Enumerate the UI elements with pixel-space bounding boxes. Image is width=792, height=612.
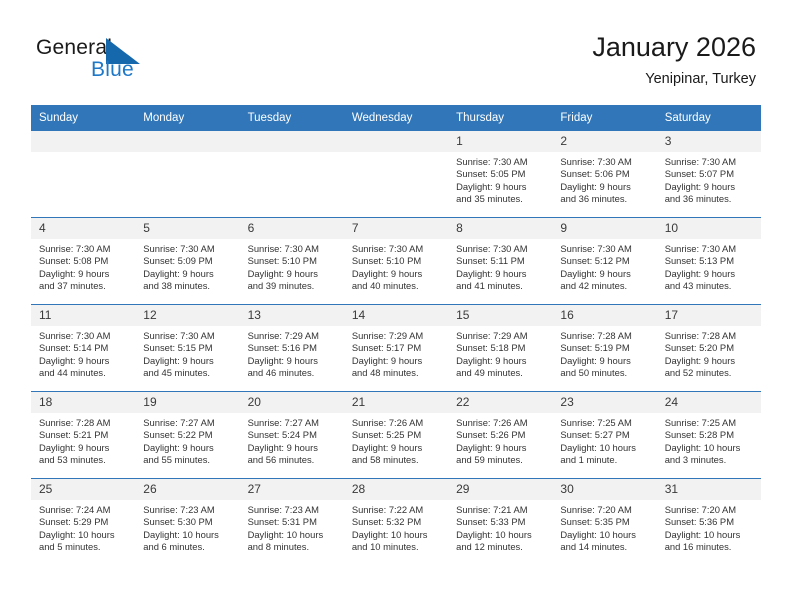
day-cell[interactable]: 13 Sunrise: 7:29 AM Sunset: 5:16 PM Dayl…	[240, 305, 344, 392]
daylight-text-line1: Daylight: 10 hours	[143, 529, 233, 541]
day-number: 30	[552, 479, 656, 500]
day-cell[interactable]: 9 Sunrise: 7:30 AM Sunset: 5:12 PM Dayli…	[552, 218, 656, 305]
day-cell[interactable]: 24 Sunrise: 7:25 AM Sunset: 5:28 PM Dayl…	[657, 392, 761, 479]
day-cell[interactable]: 2 Sunrise: 7:30 AM Sunset: 5:06 PM Dayli…	[552, 131, 656, 218]
sunset-text: Sunset: 5:09 PM	[143, 255, 233, 267]
day-cell	[135, 131, 239, 218]
day-details: Sunrise: 7:28 AM Sunset: 5:20 PM Dayligh…	[657, 326, 761, 380]
sunset-text: Sunset: 5:18 PM	[456, 342, 546, 354]
day-number: 8	[448, 218, 552, 239]
sunrise-text: Sunrise: 7:20 AM	[665, 504, 755, 516]
page-subtitle-location: Yenipinar, Turkey	[592, 68, 756, 90]
sunset-text: Sunset: 5:31 PM	[248, 516, 338, 528]
day-cell[interactable]: 29 Sunrise: 7:21 AM Sunset: 5:33 PM Dayl…	[448, 479, 552, 566]
daylight-text-line2: and 36 minutes.	[665, 193, 755, 205]
sunset-text: Sunset: 5:14 PM	[39, 342, 129, 354]
sunset-text: Sunset: 5:06 PM	[560, 168, 650, 180]
calendar-week-row: 11 Sunrise: 7:30 AM Sunset: 5:14 PM Dayl…	[31, 305, 761, 392]
daylight-text-line2: and 8 minutes.	[248, 541, 338, 553]
daylight-text-line2: and 46 minutes.	[248, 367, 338, 379]
sunset-text: Sunset: 5:05 PM	[456, 168, 546, 180]
day-details: Sunrise: 7:30 AM Sunset: 5:07 PM Dayligh…	[657, 152, 761, 206]
daylight-text-line2: and 41 minutes.	[456, 280, 546, 292]
logo-text-blue: Blue	[91, 58, 134, 82]
day-details: Sunrise: 7:30 AM Sunset: 5:12 PM Dayligh…	[552, 239, 656, 293]
daylight-text-line2: and 38 minutes.	[143, 280, 233, 292]
sunrise-text: Sunrise: 7:30 AM	[352, 243, 442, 255]
day-cell[interactable]: 27 Sunrise: 7:23 AM Sunset: 5:31 PM Dayl…	[240, 479, 344, 566]
day-cell[interactable]: 16 Sunrise: 7:28 AM Sunset: 5:19 PM Dayl…	[552, 305, 656, 392]
day-cell[interactable]: 26 Sunrise: 7:23 AM Sunset: 5:30 PM Dayl…	[135, 479, 239, 566]
daylight-text-line1: Daylight: 9 hours	[39, 355, 129, 367]
day-cell[interactable]: 20 Sunrise: 7:27 AM Sunset: 5:24 PM Dayl…	[240, 392, 344, 479]
sunset-text: Sunset: 5:20 PM	[665, 342, 755, 354]
day-details: Sunrise: 7:30 AM Sunset: 5:11 PM Dayligh…	[448, 239, 552, 293]
sunrise-text: Sunrise: 7:27 AM	[248, 417, 338, 429]
sunset-text: Sunset: 5:17 PM	[352, 342, 442, 354]
calendar-page: General Blue January 2026 Yenipinar, Tur…	[0, 0, 792, 612]
sunset-text: Sunset: 5:19 PM	[560, 342, 650, 354]
daylight-text-line1: Daylight: 9 hours	[560, 181, 650, 193]
day-cell[interactable]: 11 Sunrise: 7:30 AM Sunset: 5:14 PM Dayl…	[31, 305, 135, 392]
day-details: Sunrise: 7:30 AM Sunset: 5:06 PM Dayligh…	[552, 152, 656, 206]
sunrise-text: Sunrise: 7:27 AM	[143, 417, 233, 429]
daylight-text-line2: and 14 minutes.	[560, 541, 650, 553]
day-details: Sunrise: 7:28 AM Sunset: 5:19 PM Dayligh…	[552, 326, 656, 380]
logo-text-general: General	[36, 36, 112, 60]
day-number: 27	[240, 479, 344, 500]
daylight-text-line1: Daylight: 9 hours	[665, 181, 755, 193]
daylight-text-line2: and 36 minutes.	[560, 193, 650, 205]
daylight-text-line1: Daylight: 9 hours	[352, 355, 442, 367]
day-number: 28	[344, 479, 448, 500]
day-number: 29	[448, 479, 552, 500]
sunrise-text: Sunrise: 7:30 AM	[456, 243, 546, 255]
day-details: Sunrise: 7:30 AM Sunset: 5:05 PM Dayligh…	[448, 152, 552, 206]
sunset-text: Sunset: 5:26 PM	[456, 429, 546, 441]
sunrise-text: Sunrise: 7:24 AM	[39, 504, 129, 516]
daylight-text-line2: and 48 minutes.	[352, 367, 442, 379]
day-cell[interactable]: 15 Sunrise: 7:29 AM Sunset: 5:18 PM Dayl…	[448, 305, 552, 392]
sunrise-text: Sunrise: 7:28 AM	[560, 330, 650, 342]
daylight-text-line1: Daylight: 9 hours	[143, 442, 233, 454]
sunrise-text: Sunrise: 7:26 AM	[352, 417, 442, 429]
sunset-text: Sunset: 5:11 PM	[456, 255, 546, 267]
daylight-text-line1: Daylight: 10 hours	[352, 529, 442, 541]
daylight-text-line2: and 42 minutes.	[560, 280, 650, 292]
day-cell	[31, 131, 135, 218]
day-details: Sunrise: 7:28 AM Sunset: 5:21 PM Dayligh…	[31, 413, 135, 467]
day-number: 31	[657, 479, 761, 500]
sunset-text: Sunset: 5:32 PM	[352, 516, 442, 528]
sunset-text: Sunset: 5:16 PM	[248, 342, 338, 354]
day-details: Sunrise: 7:20 AM Sunset: 5:36 PM Dayligh…	[657, 500, 761, 554]
sunrise-text: Sunrise: 7:28 AM	[665, 330, 755, 342]
sunrise-text: Sunrise: 7:30 AM	[665, 243, 755, 255]
daylight-text-line1: Daylight: 10 hours	[560, 442, 650, 454]
day-number: 24	[657, 392, 761, 413]
daylight-text-line1: Daylight: 9 hours	[456, 355, 546, 367]
sunset-text: Sunset: 5:13 PM	[665, 255, 755, 267]
calendar-grid: Sunday Monday Tuesday Wednesday Thursday…	[31, 105, 761, 565]
daylight-text-line1: Daylight: 9 hours	[352, 442, 442, 454]
day-details	[135, 152, 239, 156]
day-details: Sunrise: 7:21 AM Sunset: 5:33 PM Dayligh…	[448, 500, 552, 554]
sunrise-text: Sunrise: 7:29 AM	[352, 330, 442, 342]
daylight-text-line1: Daylight: 10 hours	[456, 529, 546, 541]
day-number: 23	[552, 392, 656, 413]
sunrise-text: Sunrise: 7:30 AM	[143, 243, 233, 255]
sunset-text: Sunset: 5:29 PM	[39, 516, 129, 528]
day-number: 5	[135, 218, 239, 239]
daylight-text-line1: Daylight: 9 hours	[560, 268, 650, 280]
weekday-header-row: Sunday Monday Tuesday Wednesday Thursday…	[31, 105, 761, 131]
daylight-text-line2: and 10 minutes.	[352, 541, 442, 553]
sunset-text: Sunset: 5:36 PM	[665, 516, 755, 528]
day-details: Sunrise: 7:29 AM Sunset: 5:17 PM Dayligh…	[344, 326, 448, 380]
page-title: January 2026	[592, 30, 756, 64]
day-cell[interactable]: 25 Sunrise: 7:24 AM Sunset: 5:29 PM Dayl…	[31, 479, 135, 566]
daylight-text-line2: and 53 minutes.	[39, 454, 129, 466]
sunset-text: Sunset: 5:21 PM	[39, 429, 129, 441]
sunrise-text: Sunrise: 7:30 AM	[39, 243, 129, 255]
day-cell[interactable]: 1 Sunrise: 7:30 AM Sunset: 5:05 PM Dayli…	[448, 131, 552, 218]
daylight-text-line2: and 43 minutes.	[665, 280, 755, 292]
daylight-text-line1: Daylight: 10 hours	[560, 529, 650, 541]
day-details: Sunrise: 7:30 AM Sunset: 5:15 PM Dayligh…	[135, 326, 239, 380]
weekday-header-thursday: Thursday	[448, 105, 552, 131]
day-number: 6	[240, 218, 344, 239]
daylight-text-line1: Daylight: 10 hours	[39, 529, 129, 541]
daylight-text-line2: and 49 minutes.	[456, 367, 546, 379]
daylight-text-line1: Daylight: 9 hours	[248, 355, 338, 367]
daylight-text-line2: and 59 minutes.	[456, 454, 546, 466]
day-number: 17	[657, 305, 761, 326]
daylight-text-line1: Daylight: 10 hours	[665, 442, 755, 454]
day-number: 2	[552, 131, 656, 152]
daylight-text-line2: and 39 minutes.	[248, 280, 338, 292]
day-details	[240, 152, 344, 156]
weekday-header-friday: Friday	[552, 105, 656, 131]
sunrise-text: Sunrise: 7:21 AM	[456, 504, 546, 516]
day-number: 20	[240, 392, 344, 413]
day-number: 9	[552, 218, 656, 239]
daylight-text-line2: and 6 minutes.	[143, 541, 233, 553]
day-number: 11	[31, 305, 135, 326]
day-number: 22	[448, 392, 552, 413]
day-details: Sunrise: 7:30 AM Sunset: 5:13 PM Dayligh…	[657, 239, 761, 293]
daylight-text-line2: and 37 minutes.	[39, 280, 129, 292]
day-number: 1	[448, 131, 552, 152]
day-cell[interactable]: 10 Sunrise: 7:30 AM Sunset: 5:13 PM Dayl…	[657, 218, 761, 305]
sunrise-text: Sunrise: 7:23 AM	[248, 504, 338, 516]
daylight-text-line2: and 56 minutes.	[248, 454, 338, 466]
page-header: General Blue January 2026 Yenipinar, Tur…	[0, 0, 792, 104]
sunrise-text: Sunrise: 7:29 AM	[248, 330, 338, 342]
daylight-text-line2: and 5 minutes.	[39, 541, 129, 553]
weekday-header-saturday: Saturday	[657, 105, 761, 131]
day-number: 18	[31, 392, 135, 413]
sunset-text: Sunset: 5:24 PM	[248, 429, 338, 441]
daylight-text-line2: and 45 minutes.	[143, 367, 233, 379]
day-cell[interactable]: 6 Sunrise: 7:30 AM Sunset: 5:10 PM Dayli…	[240, 218, 344, 305]
day-number: 7	[344, 218, 448, 239]
sunset-text: Sunset: 5:07 PM	[665, 168, 755, 180]
daylight-text-line2: and 55 minutes.	[143, 454, 233, 466]
day-details: Sunrise: 7:29 AM Sunset: 5:18 PM Dayligh…	[448, 326, 552, 380]
day-cell[interactable]: 23 Sunrise: 7:25 AM Sunset: 5:27 PM Dayl…	[552, 392, 656, 479]
day-details: Sunrise: 7:25 AM Sunset: 5:28 PM Dayligh…	[657, 413, 761, 467]
day-details: Sunrise: 7:26 AM Sunset: 5:25 PM Dayligh…	[344, 413, 448, 467]
daylight-text-line1: Daylight: 9 hours	[39, 442, 129, 454]
day-details: Sunrise: 7:30 AM Sunset: 5:09 PM Dayligh…	[135, 239, 239, 293]
sunrise-text: Sunrise: 7:30 AM	[665, 156, 755, 168]
day-details: Sunrise: 7:20 AM Sunset: 5:35 PM Dayligh…	[552, 500, 656, 554]
day-cell[interactable]: 5 Sunrise: 7:30 AM Sunset: 5:09 PM Dayli…	[135, 218, 239, 305]
daylight-text-line1: Daylight: 9 hours	[456, 268, 546, 280]
day-cell[interactable]: 12 Sunrise: 7:30 AM Sunset: 5:15 PM Dayl…	[135, 305, 239, 392]
day-number	[344, 131, 448, 152]
day-cell[interactable]: 21 Sunrise: 7:26 AM Sunset: 5:25 PM Dayl…	[344, 392, 448, 479]
sunset-text: Sunset: 5:35 PM	[560, 516, 650, 528]
daylight-text-line2: and 40 minutes.	[352, 280, 442, 292]
sunrise-text: Sunrise: 7:30 AM	[143, 330, 233, 342]
day-number: 26	[135, 479, 239, 500]
day-details	[344, 152, 448, 156]
daylight-text-line1: Daylight: 10 hours	[248, 529, 338, 541]
daylight-text-line1: Daylight: 9 hours	[248, 442, 338, 454]
daylight-text-line1: Daylight: 9 hours	[456, 442, 546, 454]
calendar-week-row: 4 Sunrise: 7:30 AM Sunset: 5:08 PM Dayli…	[31, 218, 761, 305]
sunrise-text: Sunrise: 7:26 AM	[456, 417, 546, 429]
day-cell	[240, 131, 344, 218]
sunset-text: Sunset: 5:33 PM	[456, 516, 546, 528]
daylight-text-line1: Daylight: 9 hours	[456, 181, 546, 193]
day-details: Sunrise: 7:23 AM Sunset: 5:31 PM Dayligh…	[240, 500, 344, 554]
day-details: Sunrise: 7:27 AM Sunset: 5:22 PM Dayligh…	[135, 413, 239, 467]
sunrise-text: Sunrise: 7:22 AM	[352, 504, 442, 516]
day-details: Sunrise: 7:29 AM Sunset: 5:16 PM Dayligh…	[240, 326, 344, 380]
day-number: 10	[657, 218, 761, 239]
daylight-text-line2: and 35 minutes.	[456, 193, 546, 205]
daylight-text-line1: Daylight: 9 hours	[352, 268, 442, 280]
day-number: 14	[344, 305, 448, 326]
day-number: 4	[31, 218, 135, 239]
day-details: Sunrise: 7:30 AM Sunset: 5:10 PM Dayligh…	[344, 239, 448, 293]
sunrise-text: Sunrise: 7:23 AM	[143, 504, 233, 516]
day-cell[interactable]: 28 Sunrise: 7:22 AM Sunset: 5:32 PM Dayl…	[344, 479, 448, 566]
daylight-text-line2: and 52 minutes.	[665, 367, 755, 379]
daylight-text-line1: Daylight: 9 hours	[665, 268, 755, 280]
day-cell[interactable]: 4 Sunrise: 7:30 AM Sunset: 5:08 PM Dayli…	[31, 218, 135, 305]
general-blue-logo[interactable]: General Blue	[36, 36, 236, 88]
day-number: 15	[448, 305, 552, 326]
sunset-text: Sunset: 5:12 PM	[560, 255, 650, 267]
daylight-text-line1: Daylight: 9 hours	[143, 268, 233, 280]
day-details: Sunrise: 7:25 AM Sunset: 5:27 PM Dayligh…	[552, 413, 656, 467]
daylight-text-line1: Daylight: 9 hours	[560, 355, 650, 367]
daylight-text-line1: Daylight: 9 hours	[665, 355, 755, 367]
calendar-week-row: 18 Sunrise: 7:28 AM Sunset: 5:21 PM Dayl…	[31, 392, 761, 479]
day-cell[interactable]: 18 Sunrise: 7:28 AM Sunset: 5:21 PM Dayl…	[31, 392, 135, 479]
sunset-text: Sunset: 5:30 PM	[143, 516, 233, 528]
day-details	[31, 152, 135, 156]
weekday-header-tuesday: Tuesday	[240, 105, 344, 131]
sunrise-text: Sunrise: 7:29 AM	[456, 330, 546, 342]
sunrise-text: Sunrise: 7:30 AM	[560, 156, 650, 168]
day-number: 25	[31, 479, 135, 500]
day-details: Sunrise: 7:30 AM Sunset: 5:08 PM Dayligh…	[31, 239, 135, 293]
sunrise-text: Sunrise: 7:30 AM	[456, 156, 546, 168]
day-cell[interactable]: 31 Sunrise: 7:20 AM Sunset: 5:36 PM Dayl…	[657, 479, 761, 566]
sunrise-text: Sunrise: 7:30 AM	[560, 243, 650, 255]
day-details: Sunrise: 7:23 AM Sunset: 5:30 PM Dayligh…	[135, 500, 239, 554]
daylight-text-line1: Daylight: 9 hours	[143, 355, 233, 367]
day-cell	[344, 131, 448, 218]
day-cell[interactable]: 19 Sunrise: 7:27 AM Sunset: 5:22 PM Dayl…	[135, 392, 239, 479]
sunset-text: Sunset: 5:10 PM	[248, 255, 338, 267]
sunset-text: Sunset: 5:27 PM	[560, 429, 650, 441]
day-number	[135, 131, 239, 152]
day-details: Sunrise: 7:27 AM Sunset: 5:24 PM Dayligh…	[240, 413, 344, 467]
sunset-text: Sunset: 5:25 PM	[352, 429, 442, 441]
day-number: 16	[552, 305, 656, 326]
day-cell[interactable]: 7 Sunrise: 7:30 AM Sunset: 5:10 PM Dayli…	[344, 218, 448, 305]
day-details: Sunrise: 7:30 AM Sunset: 5:10 PM Dayligh…	[240, 239, 344, 293]
calendar-body: 1 Sunrise: 7:30 AM Sunset: 5:05 PM Dayli…	[31, 131, 761, 565]
day-details: Sunrise: 7:26 AM Sunset: 5:26 PM Dayligh…	[448, 413, 552, 467]
sunset-text: Sunset: 5:22 PM	[143, 429, 233, 441]
sunset-text: Sunset: 5:10 PM	[352, 255, 442, 267]
daylight-text-line1: Daylight: 9 hours	[248, 268, 338, 280]
sunrise-text: Sunrise: 7:30 AM	[39, 330, 129, 342]
day-number: 12	[135, 305, 239, 326]
daylight-text-line1: Daylight: 10 hours	[665, 529, 755, 541]
daylight-text-line2: and 44 minutes.	[39, 367, 129, 379]
day-cell[interactable]: 17 Sunrise: 7:28 AM Sunset: 5:20 PM Dayl…	[657, 305, 761, 392]
daylight-text-line2: and 16 minutes.	[665, 541, 755, 553]
sunrise-text: Sunrise: 7:25 AM	[665, 417, 755, 429]
day-number: 19	[135, 392, 239, 413]
daylight-text-line2: and 1 minute.	[560, 454, 650, 466]
weekday-header-sunday: Sunday	[31, 105, 135, 131]
calendar-week-row: 25 Sunrise: 7:24 AM Sunset: 5:29 PM Dayl…	[31, 479, 761, 566]
daylight-text-line2: and 50 minutes.	[560, 367, 650, 379]
day-number: 21	[344, 392, 448, 413]
weekday-header-wednesday: Wednesday	[344, 105, 448, 131]
day-number	[240, 131, 344, 152]
sunrise-text: Sunrise: 7:20 AM	[560, 504, 650, 516]
day-details: Sunrise: 7:30 AM Sunset: 5:14 PM Dayligh…	[31, 326, 135, 380]
day-number: 3	[657, 131, 761, 152]
title-block: January 2026 Yenipinar, Turkey	[592, 30, 756, 90]
calendar-week-row: 1 Sunrise: 7:30 AM Sunset: 5:05 PM Dayli…	[31, 131, 761, 218]
daylight-text-line2: and 12 minutes.	[456, 541, 546, 553]
day-cell[interactable]: 22 Sunrise: 7:26 AM Sunset: 5:26 PM Dayl…	[448, 392, 552, 479]
day-details: Sunrise: 7:22 AM Sunset: 5:32 PM Dayligh…	[344, 500, 448, 554]
sunrise-text: Sunrise: 7:28 AM	[39, 417, 129, 429]
day-cell[interactable]: 14 Sunrise: 7:29 AM Sunset: 5:17 PM Dayl…	[344, 305, 448, 392]
daylight-text-line2: and 58 minutes.	[352, 454, 442, 466]
daylight-text-line1: Daylight: 9 hours	[39, 268, 129, 280]
day-cell[interactable]: 3 Sunrise: 7:30 AM Sunset: 5:07 PM Dayli…	[657, 131, 761, 218]
day-cell[interactable]: 8 Sunrise: 7:30 AM Sunset: 5:11 PM Dayli…	[448, 218, 552, 305]
weekday-header-monday: Monday	[135, 105, 239, 131]
day-details: Sunrise: 7:24 AM Sunset: 5:29 PM Dayligh…	[31, 500, 135, 554]
day-cell[interactable]: 30 Sunrise: 7:20 AM Sunset: 5:35 PM Dayl…	[552, 479, 656, 566]
sunset-text: Sunset: 5:15 PM	[143, 342, 233, 354]
day-number: 13	[240, 305, 344, 326]
sunset-text: Sunset: 5:28 PM	[665, 429, 755, 441]
daylight-text-line2: and 3 minutes.	[665, 454, 755, 466]
day-number	[31, 131, 135, 152]
sunset-text: Sunset: 5:08 PM	[39, 255, 129, 267]
sunrise-text: Sunrise: 7:30 AM	[248, 243, 338, 255]
sunrise-text: Sunrise: 7:25 AM	[560, 417, 650, 429]
